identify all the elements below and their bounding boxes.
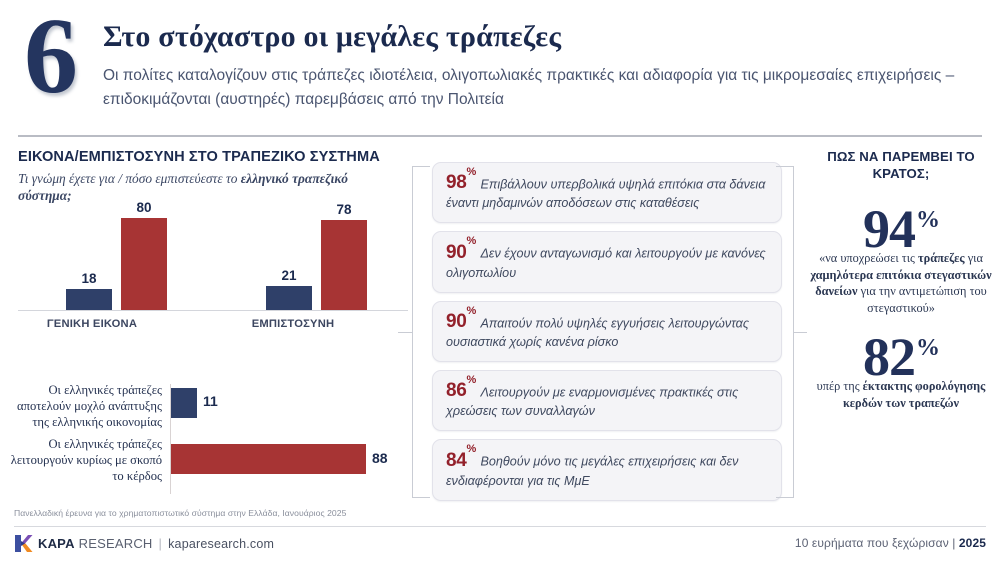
finding-text: Απαιτούν πολύ υψηλές εγγυήσεις λειτουργώ… <box>446 316 749 349</box>
question-lead: Τι γνώμη έχετε για / πόσο εμπιστεύεστε τ… <box>18 171 241 186</box>
logo-url[interactable]: kaparesearch.com <box>168 537 274 551</box>
finding-text: Δεν έχουν ανταγωνισμό και λειτουργούν με… <box>446 247 766 280</box>
logo-kapa: KAPA <box>38 536 75 551</box>
finding-card[interactable]: 84% Βοηθούν μόνο τις μεγάλες επιχειρήσει… <box>432 439 782 500</box>
footer-year: 2025 <box>959 536 986 550</box>
source-note: Πανελλαδική έρευνα για το χρηματοπιστωτι… <box>14 508 346 518</box>
page-subtitle: Οι πολίτες καταλογίζουν στις τράπεζες ιδ… <box>103 64 983 112</box>
finding-text: Λειτουργούν με εναρμονισμένες πρακτικές … <box>446 385 738 418</box>
hbar-label-kerdos: Οι ελληνικές τράπεζες λειτουργούν κυρίως… <box>10 436 162 484</box>
left-column: ΕΙΚΟΝΑ/ΕΜΠΙΣΤΟΣΥΝΗ ΣΤΟ ΤΡΑΠΕΖΙΚΟ ΣΥΣΤΗΜΑ… <box>18 148 398 204</box>
grouped-bar-chart: 18 80 21 78 ΓΕΝΙΚΗ ΕΙΚΟΝΑ ΕΜΠΙΣΤΟΣΥΝΗ <box>18 205 408 330</box>
header: 6 Στο στόχαστρο οι μεγάλες τράπεζες Οι π… <box>0 0 1000 126</box>
hbar-label-anaptyxi: Οι ελληνικές τράπεζες αποτελούν μοχλό αν… <box>10 382 162 430</box>
hbar-row-anaptyxi: Οι ελληνικές τράπεζες αποτελούν μοχλό αν… <box>10 382 410 432</box>
page-title: Στο στόχαστρο οι μεγάλες τράπεζες <box>103 20 561 54</box>
bar-rect-genikh-navy <box>66 289 112 310</box>
finding-card[interactable]: 86% Λειτουργούν με εναρμονισμένες πρακτι… <box>432 370 782 431</box>
findings-card-list: 98% Επιβάλλουν υπερβολικά υψηλά επιτόκια… <box>432 162 782 509</box>
finding-percent: 86% <box>446 380 476 401</box>
bar-category-label-genikh: ΓΕΝΙΚΗ ΕΙΚΟΝΑ <box>17 318 167 330</box>
percent-symbol: % <box>467 166 476 178</box>
bar-value-genikh-navy: 18 <box>66 271 112 286</box>
finding-card[interactable]: 90% Απαιτούν πολύ υψηλές εγγυήσεις λειτο… <box>432 301 782 362</box>
header-divider <box>18 135 982 137</box>
kapa-k-icon <box>14 534 33 553</box>
bar-rect-empistosyni-navy <box>266 286 312 310</box>
bar-rect-empistosyni-red <box>321 220 367 310</box>
finding-card[interactable]: 90% Δεν έχουν ανταγωνισμό και λειτουργού… <box>432 231 782 292</box>
left-section-question: Τι γνώμη έχετε για / πόσο εμπιστεύεστε τ… <box>18 170 398 204</box>
section-number: 6 <box>24 3 76 111</box>
percent-symbol: % <box>467 235 476 247</box>
bar-chart-baseline <box>18 310 408 311</box>
finding-percent: 90% <box>446 311 476 332</box>
hbar-row-kerdos: Οι ελληνικές τράπεζες λειτουργούν κυρίως… <box>10 436 410 486</box>
stat-82-caption: υπέρ της έκτακτης φορολόγησης κερδών των… <box>806 378 996 411</box>
stat-94-symbol: % <box>916 207 940 233</box>
logo-separator: | <box>159 536 163 551</box>
logo-research: RESEARCH <box>79 536 153 551</box>
percent-symbol: % <box>467 305 476 317</box>
kapa-research-logo[interactable]: KAPARESEARCH|kaparesearch.com <box>14 532 274 554</box>
hbar-rect-anaptyxi <box>171 388 197 418</box>
bar-value-empistosyni-navy: 21 <box>266 268 312 283</box>
hbar-value-anaptyxi: 11 <box>203 393 218 409</box>
finding-percent: 84% <box>446 450 476 471</box>
finding-card[interactable]: 98% Επιβάλλουν υπερβολικά υψηλά επιτόκια… <box>432 162 782 223</box>
hbar-value-kerdos: 88 <box>372 450 388 466</box>
hbar-rect-kerdos <box>171 444 366 474</box>
infographic-page: 6 Στο στόχαστρο οι μεγάλες τράπεζες Οι π… <box>0 0 1000 563</box>
right-bracket-tick <box>793 332 807 333</box>
stat-82-symbol: % <box>916 335 940 361</box>
finding-text: Επιβάλλουν υπερβολικά υψηλά επιτόκια στα… <box>446 177 765 210</box>
finding-percent: 90% <box>446 242 476 263</box>
stat-94: 94% <box>806 202 996 256</box>
stat-94-caption: «να υποχρεώσει τις τράπεζες για χαμηλότε… <box>806 250 996 316</box>
percent-symbol: % <box>467 374 476 386</box>
stat-82: 82% <box>806 330 996 384</box>
left-bracket-tick <box>398 332 412 333</box>
footer-caption-text: 10 ευρήματα που ξεχώρισαν | <box>795 536 959 550</box>
bar-value-genikh-red: 80 <box>121 200 167 215</box>
bar-value-empistosyni-red: 78 <box>321 202 367 217</box>
finding-percent: 98% <box>446 172 476 193</box>
right-section-title: ΠΩΣ ΝΑ ΠΑΡΕΜΒΕΙ ΤΟ ΚΡΑΤΟΣ; <box>806 148 996 182</box>
footer-divider <box>14 526 986 527</box>
percent-symbol: % <box>467 443 476 455</box>
footer-caption: 10 ευρήματα που ξεχώρισαν | 2025 <box>795 536 986 550</box>
logo-wordmark: KAPARESEARCH|kaparesearch.com <box>38 536 274 551</box>
bar-category-label-empistosyni: ΕΜΠΙΣΤΟΣΥΝΗ <box>218 318 368 330</box>
right-column: ΠΩΣ ΝΑ ΠΑΡΕΜΒΕΙ ΤΟ ΚΡΑΤΟΣ; 94% «να υποχρ… <box>806 148 996 411</box>
horizontal-bar-chart: Οι ελληνικές τράπεζες αποτελούν μοχλό αν… <box>10 382 410 497</box>
finding-text: Βοηθούν μόνο τις μεγάλες επιχειρήσεις κα… <box>446 455 738 488</box>
bar-rect-genikh-red <box>121 218 167 310</box>
left-section-title: ΕΙΚΟΝΑ/ΕΜΠΙΣΤΟΣΥΝΗ ΣΤΟ ΤΡΑΠΕΖΙΚΟ ΣΥΣΤΗΜΑ <box>18 148 398 166</box>
